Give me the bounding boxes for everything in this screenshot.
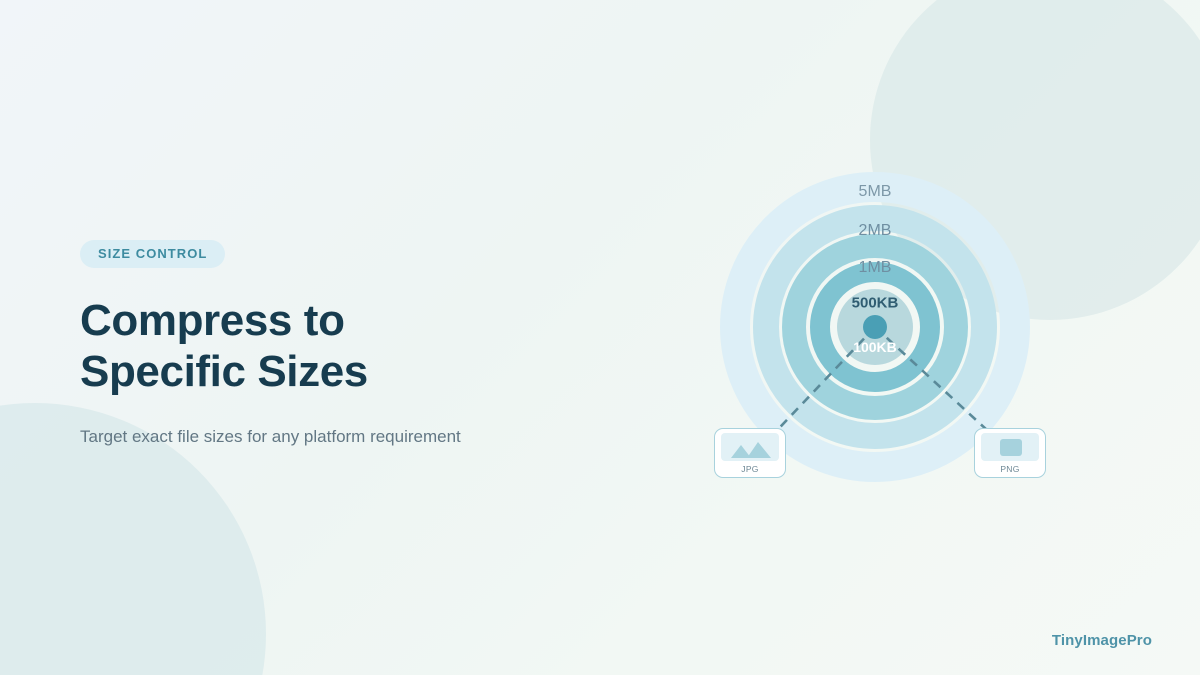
size-target-graphic: 5MB 2MB 1MB 500KB 100KB JPG PNG	[700, 155, 1060, 505]
photo-mountains-icon	[721, 433, 779, 461]
slide-canvas: SIZE CONTROL Compress to Specific Sizes …	[0, 0, 1200, 675]
png-thumbnail	[981, 433, 1039, 461]
page-title: Compress to Specific Sizes	[80, 295, 510, 398]
rounded-square-icon	[981, 433, 1039, 461]
copy-block: SIZE CONTROL Compress to Specific Sizes …	[80, 240, 600, 450]
page-subtitle: Target exact file sizes for any platform…	[80, 425, 600, 450]
jpg-label: JPG	[741, 464, 758, 474]
jpg-thumbnail	[721, 433, 779, 461]
eyebrow-badge: SIZE CONTROL	[80, 240, 225, 268]
format-card-png[interactable]: PNG	[974, 428, 1046, 478]
format-card-jpg[interactable]: JPG	[714, 428, 786, 478]
png-label: PNG	[1000, 464, 1019, 474]
brand-wordmark: TinyImagePro	[1052, 632, 1152, 649]
center-target-dot	[863, 315, 887, 339]
